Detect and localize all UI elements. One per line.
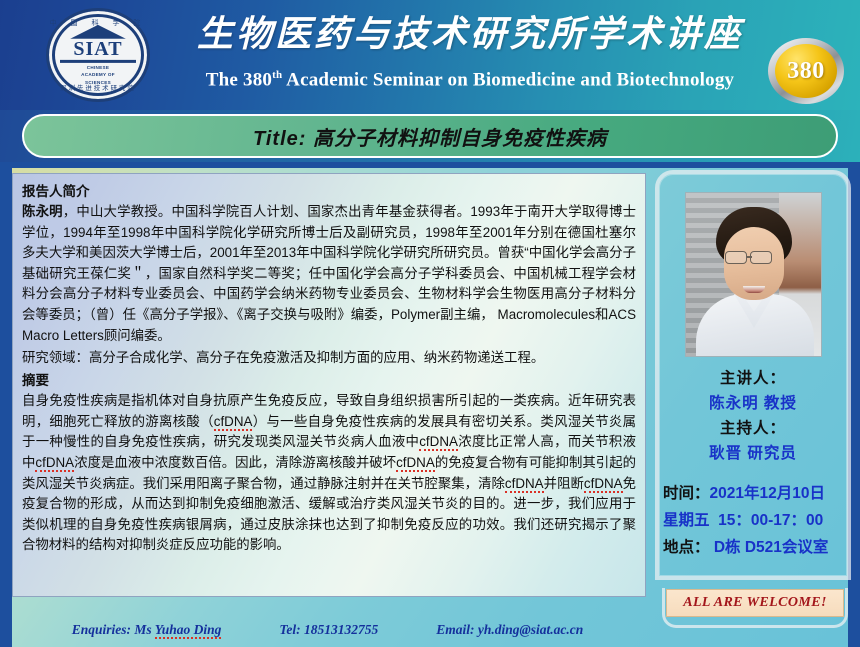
speaker-sidebar: 主讲人： 陈永明 教授 主持人： 耿晋 研究员 时间：2021年12月10日 星… [655,170,851,580]
weekday-row: 星期五 15：00-17：00 [659,507,847,534]
time-value: 2021年12月10日 [710,485,825,502]
cfdna-term-3: cfDNA [35,455,74,472]
photo-smile [743,286,765,293]
time-row: 时间：2021年12月10日 [659,480,847,507]
welcome-text: ALL ARE WELCOME! [683,595,827,611]
temple-roof-icon [70,25,126,39]
time-label: 时间： [663,485,710,502]
bio-body: ，中山大学教授。中国科学院百人计划、国家杰出青年基金获得者。1993年于南开大学… [22,204,636,343]
seminar-title-english: The 380th Academic Seminar on Biomedicin… [170,60,770,95]
email-address[interactable]: Email: yh.ding@siat.ac.cn [436,622,583,638]
logo-center: SIAT CHINESE ACADEMY OF SCIENCES [60,25,136,85]
title-banner-strip: Title: 高分子材料抑制自身免疫性疾病 [0,110,860,162]
cfdna-term-5: cfDNA [505,476,544,493]
seminar-title-english-prefix: The 380 [206,69,272,90]
glasses-bridge-icon [747,256,752,258]
poster-footer: Enquiries: Ms Yuhao Ding Tel: 1851313275… [0,612,655,647]
venue-row: 地点： D栋 D521会议室 [659,534,847,561]
bio-paragraph: 陈永明，中山大学教授。中国科学院百人计划、国家杰出青年基金获得者。1993年于南… [22,202,636,346]
cfdna-term-6: cfDNA [584,476,623,493]
time-range-value: 15：00-17：00 [718,512,823,529]
speaker-label: 主讲人： [655,366,851,391]
enquiries-label: Enquiries: Ms [72,622,155,637]
siat-logo: 中 国 科 学 院 深圳先进技术研究院 SIAT CHINESE ACADEMY… [38,6,158,104]
logo-sub-line2: ACADEMY OF [60,72,136,77]
abstract-part-4: 浓度是血液中浓度数百倍。因此，清除游离核酸并破坏 [74,455,396,470]
badge-disc: 380 [775,44,837,98]
speaker-name: 陈永明 [22,204,63,219]
seminar-title-english-rest: Academic Seminar on Biomedicine and Biot… [282,69,734,90]
ordinal-suffix: th [272,69,282,81]
research-fields-line: 研究领域：高分子合成化学、高分子在免疫激活及抑制方面的应用、纳米药物递送工程。 [22,347,636,368]
enquiries-contact: Enquiries: Ms Yuhao Ding [72,622,222,638]
header-title-group: 生物医药与技术研究所学术讲座 The 380th Academic Semina… [170,8,770,95]
time-venue-block: 时间：2021年12月10日 星期五 15：00-17：00 地点： D栋 D5… [655,480,851,561]
logo-sub-line3: SCIENCES [60,80,136,85]
content-panel: 报告人简介 陈永明，中山大学教授。中国科学院百人计划、国家杰出青年基金获得者。1… [12,173,646,597]
host-label: 主持人： [655,416,851,441]
glasses-left-lens-icon [725,251,747,264]
cfdna-term-4: cfDNA [396,455,435,472]
cfdna-term-2: cfDNA [419,434,458,451]
abstract-paragraph: 自身免疫性疾病是指机体对自身抗原产生免疫反应，导致自身组织损害所引起的一类疾病。… [22,391,636,556]
title-banner: Title: 高分子材料抑制自身免疫性疾病 [22,114,838,158]
speaker-value: 陈永明 教授 [655,391,851,416]
speaker-photo [685,192,822,357]
seminar-number-badge: 380 [768,38,844,104]
speaker-host-block: 主讲人： 陈永明 教授 主持人： 耿晋 研究员 [655,366,851,466]
bio-heading: 报告人简介 [22,182,636,201]
seminar-poster: 中 国 科 学 院 深圳先进技术研究院 SIAT CHINESE ACADEMY… [0,0,860,647]
enquiries-name: Yuhao Ding [155,622,222,639]
venue-label: 地点： [663,539,710,556]
poster-header: 中 国 科 学 院 深圳先进技术研究院 SIAT CHINESE ACADEMY… [0,0,860,110]
lecture-title: Title: 高分子材料抑制自身免疫性疾病 [253,122,607,151]
logo-acronym: SIAT [60,40,136,63]
abstract-heading: 摘要 [22,371,636,390]
glasses-right-lens-icon [750,251,772,264]
speaker-bio-block: 报告人简介 陈永明，中山大学教授。中国科学院百人计划、国家杰出青年基金获得者。1… [22,182,636,368]
weekday-value: 星期五 [663,512,710,529]
host-value: 耿晋 研究员 [655,441,851,466]
telephone: Tel: 18513132755 [279,622,378,638]
welcome-box: ALL ARE WELCOME! [666,589,844,617]
cfdna-term-1: cfDNA [214,414,253,431]
badge-number: 380 [787,58,825,85]
logo-sub-line1: CHINESE [60,65,136,70]
seminar-title-chinese: 生物医药与技术研究所学术讲座 [170,8,770,60]
venue-value: D栋 D521会议室 [714,539,829,556]
abstract-part-6: 并阻断 [544,476,584,491]
